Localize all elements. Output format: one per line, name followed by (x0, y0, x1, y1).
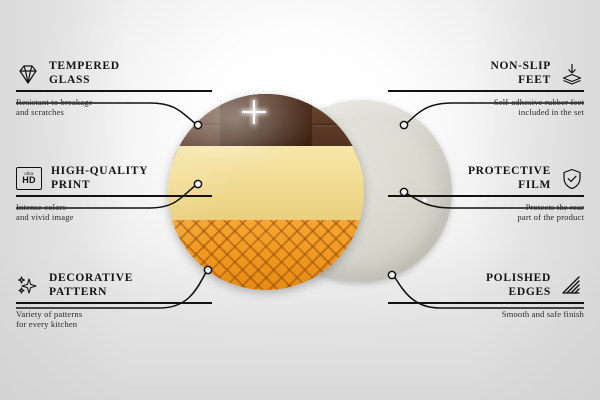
feature-desc-line1: Smooth and safe finish (388, 309, 584, 320)
feature-title: HIGH-QUALITY PRINT (51, 165, 148, 192)
feature-divider (16, 195, 212, 197)
feature-header: TEMPERED GLASS (16, 60, 212, 87)
feature-tempered-glass: TEMPERED GLASS Resistant to breakage and… (16, 60, 212, 118)
feature-divider (388, 302, 584, 304)
infographic-canvas: TEMPERED GLASS Resistant to breakage and… (0, 0, 600, 400)
feature-divider (388, 90, 584, 92)
feature-decorative-pattern: DECORATIVE PATTERN Variety of patterns f… (16, 272, 212, 330)
feature-header: PROTECTIVE FILM (388, 165, 584, 192)
feature-desc-line1: Variety of patterns (16, 309, 212, 320)
ultra-hd-icon-main-text: HD (22, 176, 35, 185)
feature-desc-line1: Protects the rear (388, 202, 584, 213)
feature-header: DECORATIVE PATTERN (16, 272, 212, 299)
arrow-down-pad-icon (560, 62, 584, 86)
feature-desc-line2: included in the set (388, 107, 584, 118)
feature-divider (16, 90, 212, 92)
feature-title: POLISHED EDGES (486, 272, 551, 299)
feature-polished-edges: POLISHED EDGES Smooth and safe finish (388, 272, 584, 319)
feature-protective-film: PROTECTIVE FILM Protects the rear part o… (388, 165, 584, 223)
feature-title: DECORATIVE PATTERN (49, 272, 133, 299)
ultra-hd-icon: ultra HD (16, 167, 42, 190)
diamond-icon (16, 62, 40, 86)
feature-header: POLISHED EDGES (388, 272, 584, 299)
feature-desc-line2: for every kitchen (16, 319, 212, 330)
feature-divider (16, 302, 212, 304)
feature-desc-line2: part of the product (388, 212, 584, 223)
feature-header: ultra HD HIGH-QUALITY PRINT (16, 165, 212, 192)
feature-desc-line1: Resistant to breakage (16, 97, 212, 108)
sparkles-icon (16, 274, 40, 298)
feature-title: PROTECTIVE FILM (468, 165, 551, 192)
feature-divider (388, 195, 584, 197)
feature-desc-line2: and scratches (16, 107, 212, 118)
shield-check-icon (560, 167, 584, 191)
feature-desc-line1: Self-adhesive rubber feet (388, 97, 584, 108)
feature-title: NON-SLIP FEET (490, 60, 551, 87)
feature-desc-line1: Intense colors (16, 202, 212, 213)
feature-title: TEMPERED GLASS (49, 60, 120, 87)
feature-high-quality-print: ultra HD HIGH-QUALITY PRINT Intense colo… (16, 165, 212, 223)
feature-header: NON-SLIP FEET (388, 60, 584, 87)
feature-non-slip-feet: NON-SLIP FEET Self-adhesive rubber feet … (388, 60, 584, 118)
diagonal-lines-icon (560, 274, 584, 298)
feature-desc-line2: and vivid image (16, 212, 212, 223)
